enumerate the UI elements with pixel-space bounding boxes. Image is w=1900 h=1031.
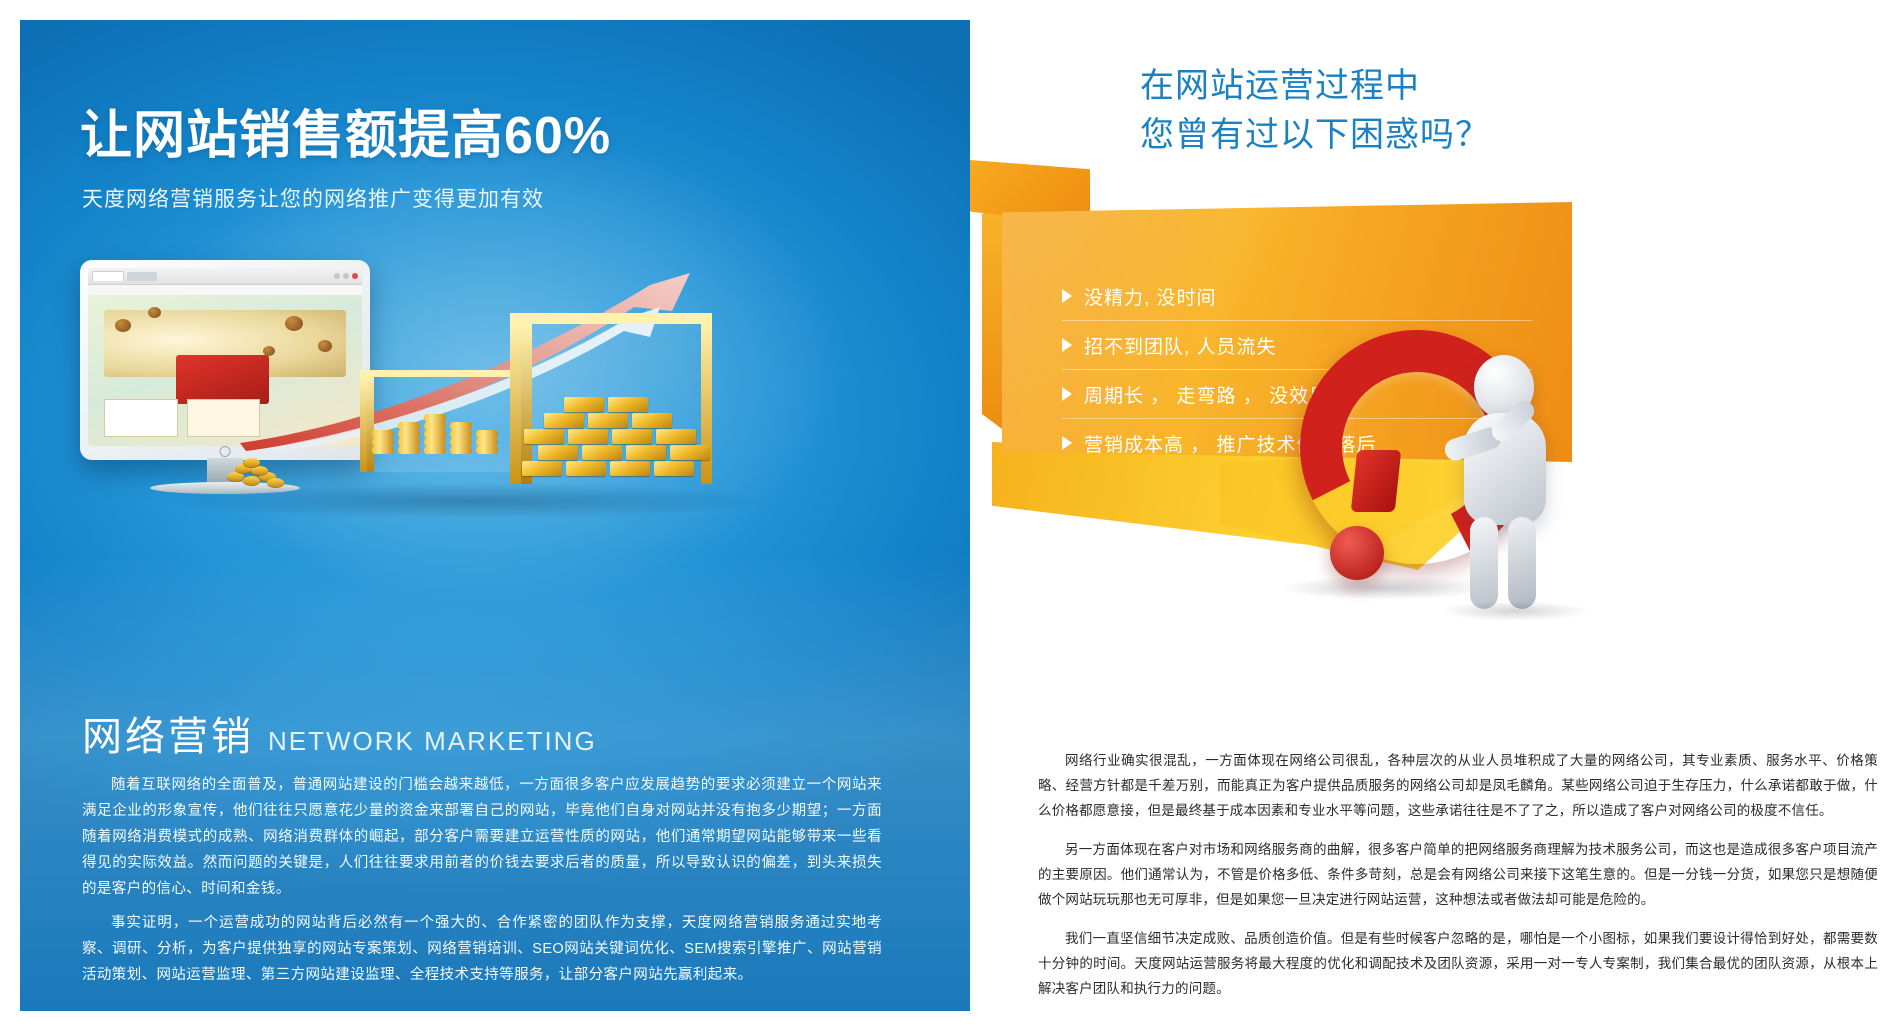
gold-bars-stack: [498, 385, 718, 480]
list-item-label: 没精力, 没时间: [1084, 283, 1217, 310]
arrow-right-icon: [1062, 436, 1072, 450]
section-heading-cn: 网络营销: [82, 704, 254, 762]
page-subtitle: 天度网络营销服务让您的网络推广变得更加有效: [82, 183, 544, 213]
left-page: 让网站销售额提高60% 天度网络营销服务让您的网络推广变得更加有效: [20, 20, 970, 1011]
illustration-scene: [20, 235, 970, 635]
person-left-leg: [1470, 517, 1498, 609]
browser-tab: [92, 271, 124, 281]
brochure-spread: 让网站销售额提高60% 天度网络营销服务让您的网络推广变得更加有效: [0, 0, 1900, 1031]
right-body-text: 网络行业确实很混乱，一方面体现在网络公司很乱，各种层次的从业人员堆积成了大量的网…: [1038, 748, 1878, 1015]
thinking-person-illustration: [1430, 355, 1590, 615]
right-page-heading: 在网站运营过程中 您曾有过以下困惑吗？: [1140, 62, 1490, 161]
section-heading: 网络营销 NETWORK MARKETING: [82, 704, 597, 762]
coin-stacks: [368, 400, 508, 470]
arrow-right-icon: [1062, 338, 1072, 352]
coin-pile-small: [225, 450, 315, 490]
list-item[interactable]: 没精力, 没时间: [1062, 272, 1532, 321]
paragraph: 我们一直坚信细节决定成败、品质创造价值。但是有些时候客户忽略的是，哪怕是一个小图…: [1038, 926, 1878, 1001]
paragraph: 另一方面体现在客户对市场和网络服务商的曲解，很多客户简单的把网络服务商理解为技术…: [1038, 837, 1878, 912]
person-shadow: [1440, 601, 1590, 621]
arrow-right-icon: [1062, 387, 1072, 401]
paragraph: 事实证明，一个运营成功的网站背后必然有一个强大的、合作紧密的团队作为支撑，天度网…: [82, 910, 882, 988]
left-body-text: 随着互联网络的全面普及，普通网站建设的门槛会越来越低，一方面很多客户应发展趋势的…: [82, 772, 882, 996]
paragraph: 随着互联网络的全面普及，普通网站建设的门槛会越来越低，一方面很多客户应发展趋势的…: [82, 772, 882, 902]
list-item-label: 招不到团队, 人员流失: [1084, 332, 1277, 359]
paragraph: 网络行业确实很混乱，一方面体现在网络公司很乱，各种层次的从业人员堆积成了大量的网…: [1038, 748, 1878, 823]
question-mark-stem: [1351, 450, 1402, 512]
question-mark-dot: [1330, 526, 1384, 580]
section-heading-en: NETWORK MARKETING: [268, 726, 597, 757]
page-title: 让网站销售额提高60%: [80, 108, 611, 165]
arrow-right-icon: [1062, 289, 1072, 303]
browser-tab: [127, 272, 157, 281]
product-thumbnail: [104, 399, 177, 437]
person-right-leg: [1508, 517, 1536, 609]
heading-line-1: 在网站运营过程中: [1140, 62, 1490, 111]
